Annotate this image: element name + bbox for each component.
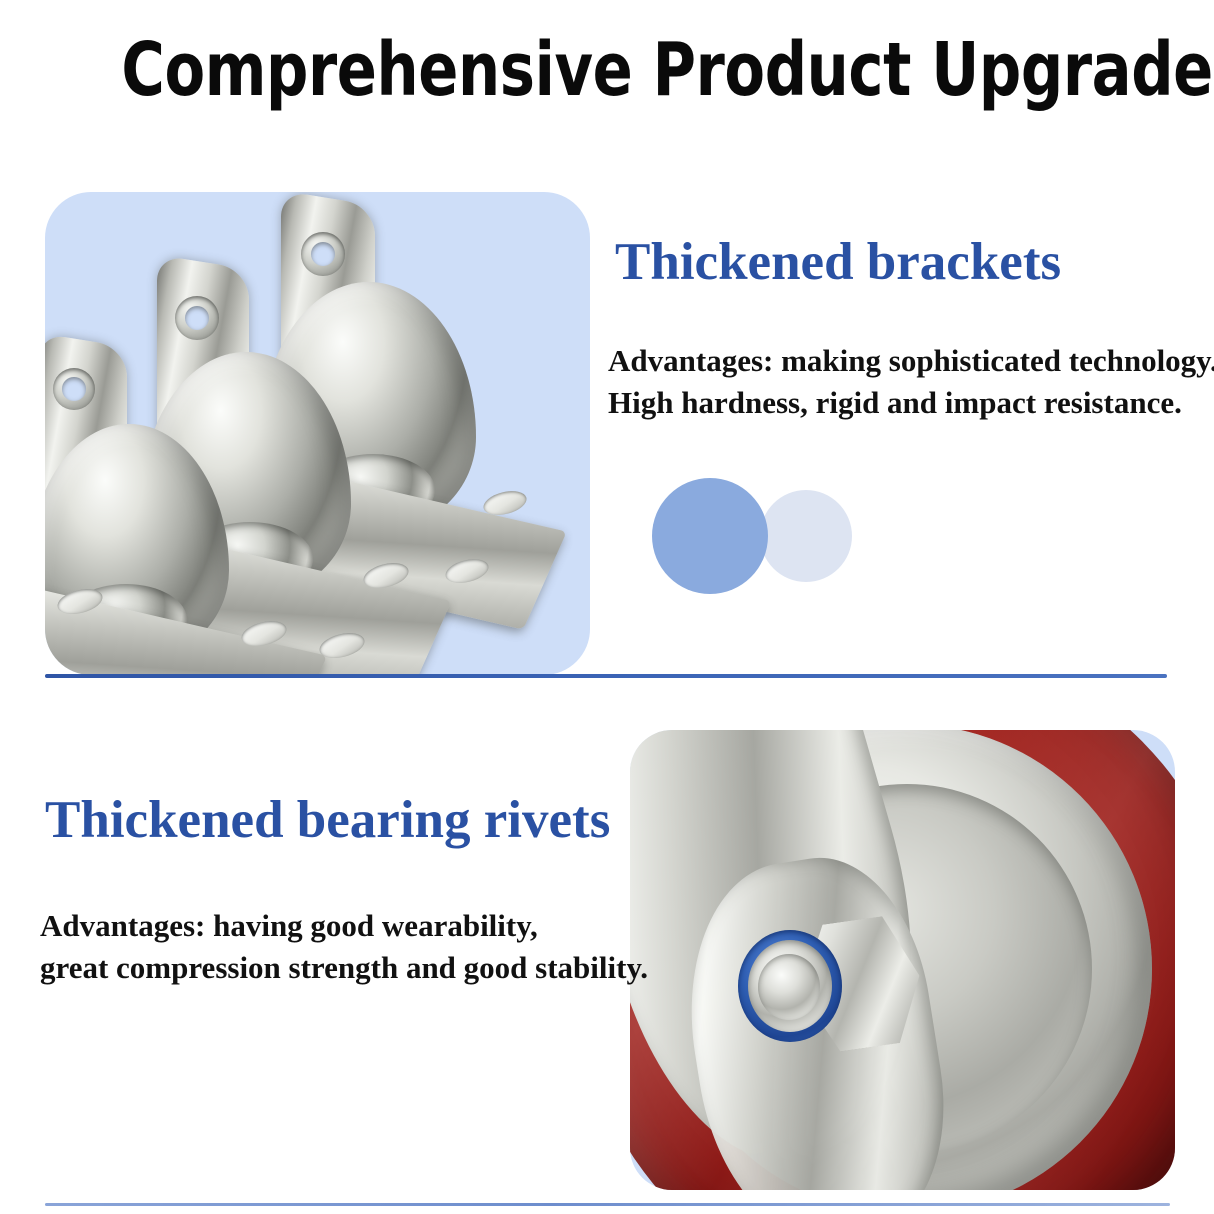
bottom-divider bbox=[45, 1203, 1170, 1206]
wheel-photo bbox=[630, 730, 1175, 1190]
page-title: Comprehensive Product Upgrade bbox=[121, 22, 1092, 118]
advantages-line: High hardness, rigid and impact resistan… bbox=[608, 382, 1214, 424]
section-divider bbox=[45, 674, 1167, 678]
advantages-line: Advantages: making sophisticated technol… bbox=[608, 340, 1214, 382]
advantages-thickened-bearing-rivets: Advantages: having good wearability, gre… bbox=[40, 905, 648, 989]
section-heading-thickened-bearing-rivets: Thickened bearing rivets bbox=[45, 790, 610, 850]
decor-circle-dark bbox=[652, 478, 768, 594]
section-heading-thickened-brackets: Thickened brackets bbox=[615, 232, 1061, 292]
brackets-photo bbox=[45, 192, 590, 675]
bearing-rivet-bolt-face bbox=[758, 954, 820, 1020]
product-upgrade-page: Comprehensive Product Upgrade bbox=[0, 0, 1214, 1214]
bracket-bolt-hole bbox=[53, 368, 95, 410]
advantages-line: great compression strength and good stab… bbox=[40, 947, 648, 989]
decor-circle-light bbox=[760, 490, 852, 582]
advantages-thickened-brackets: Advantages: making sophisticated technol… bbox=[608, 340, 1214, 424]
bracket-bolt-hole bbox=[301, 232, 345, 276]
bracket-bolt-hole bbox=[175, 296, 219, 340]
advantages-line: Advantages: having good wearability, bbox=[40, 905, 648, 947]
